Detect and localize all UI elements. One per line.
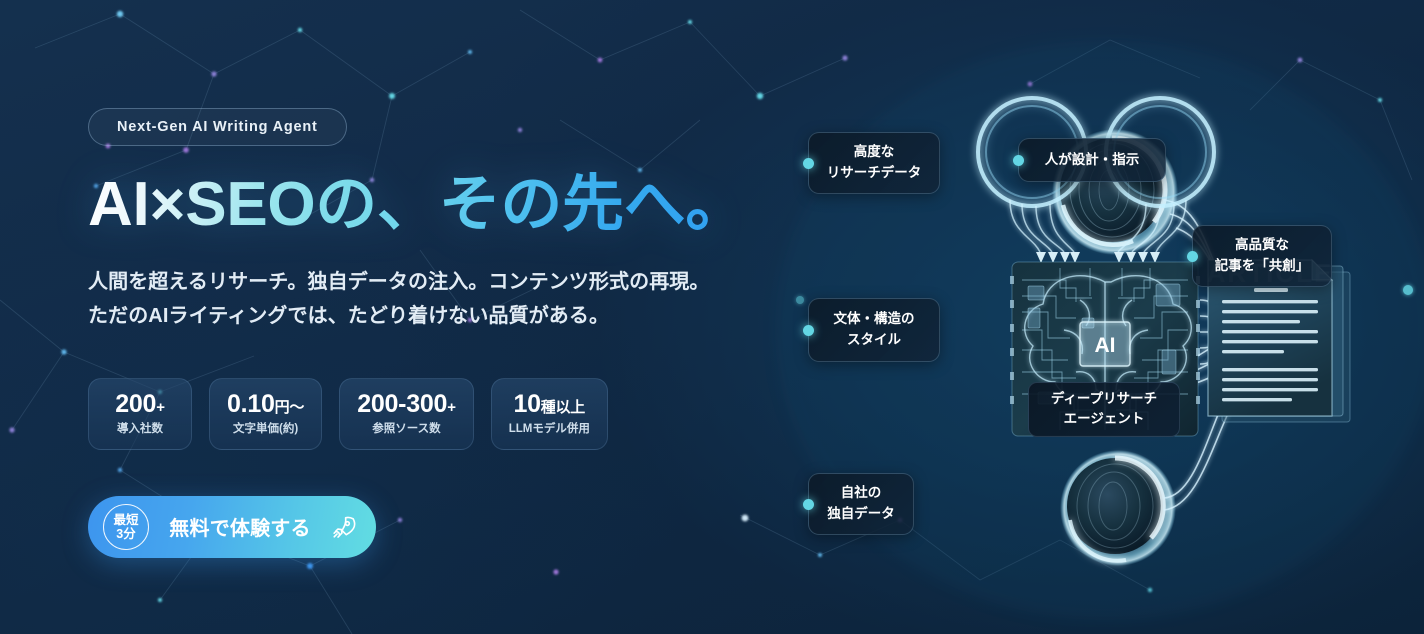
connector-dot-icon [803, 499, 814, 510]
stat-card: 10種以上 LLMモデル併用 [491, 378, 608, 450]
eyebrow-label: Next-Gen AI Writing Agent [117, 119, 318, 135]
duration-badge-line-1: 最短 [113, 513, 138, 527]
input-label-research-line-1: 高度な [854, 142, 895, 163]
ai-chip-label: AI [1095, 334, 1116, 357]
free-trial-button[interactable]: 最短 3分 無料で体験する [88, 496, 376, 558]
stat-label: 参照ソース数 [372, 420, 440, 436]
output-label-line-2: 記事を「共創」 [1215, 256, 1310, 277]
input-label-style-line-1: 文体・構造の [834, 309, 915, 330]
stat-label: 文字単価(約) [233, 420, 298, 436]
stat-number: 200 [115, 390, 156, 418]
stat-number: 10 [513, 390, 540, 418]
core-agent-caption-line-1: ディープリサーチ [1051, 391, 1157, 406]
input-label-owndata: 自社の 独自データ [808, 473, 914, 535]
duration-badge: 最短 3分 [103, 504, 149, 550]
input-label-owndata-line-1: 自社の [841, 483, 882, 504]
input-label-research: 高度な リサーチデータ [808, 132, 940, 194]
connector-dot-icon [1013, 155, 1024, 166]
stat-number: 200-300 [357, 390, 447, 418]
output-label: 高品質な 記事を「共創」 [1192, 225, 1332, 287]
stat-label: LLMモデル併用 [509, 420, 590, 436]
stat-value: 200+ [115, 392, 164, 417]
human-input-label: 人が設計・指示 [1018, 138, 1166, 182]
stat-suffix: 種以上 [541, 399, 585, 416]
stat-suffix: 円〜 [275, 399, 305, 416]
input-label-owndata-line-2: 独自データ [827, 504, 895, 525]
human-input-label-text: 人が設計・指示 [1045, 150, 1140, 171]
connector-dot-icon [803, 325, 814, 336]
input-label-research-line-2: リサーチデータ [827, 163, 922, 184]
hero-section: Next-Gen AI Writing Agent AI×SEOの、その先へ。 … [0, 0, 1424, 634]
input-label-style: 文体・構造の スタイル [808, 298, 940, 362]
connector-dot-icon [803, 158, 814, 169]
stat-suffix: + [447, 399, 456, 416]
stat-number: 0.10 [227, 390, 275, 418]
hero-left-column: Next-Gen AI Writing Agent AI×SEOの、その先へ。 … [88, 108, 768, 558]
ai-agent-diagram: AI [760, 0, 1424, 634]
stat-card: 200+ 導入社数 [88, 378, 192, 450]
rocket-icon [327, 514, 361, 540]
stat-card: 0.10円〜 文字単価(約) [209, 378, 322, 450]
subcopy-line-1: 人間を超えるリサーチ。独自データの注入。コンテンツ形式の再現。 [88, 271, 710, 293]
stat-list: 200+ 導入社数 0.10円〜 文字単価(約) 200-300+ 参照ソース数… [88, 378, 768, 450]
duration-badge-line-2: 3分 [116, 527, 135, 541]
core-agent-caption: ディープリサーチ エージェント [1028, 382, 1180, 437]
orb-owndata [1060, 450, 1176, 566]
output-label-line-1: 高品質な [1235, 235, 1289, 256]
stat-suffix: + [156, 399, 165, 416]
free-trial-label: 無料で体験する [149, 512, 327, 541]
hero-subcopy: 人間を超えるリサーチ。独自データの注入。コンテンツ形式の再現。 ただのAIライテ… [88, 265, 768, 334]
core-agent-caption-line-2: エージェント [1064, 411, 1145, 426]
input-label-style-line-2: スタイル [847, 330, 901, 351]
stat-label: 導入社数 [117, 420, 163, 436]
page-title: AI×SEOの、その先へ。 [88, 172, 768, 239]
stat-value: 0.10円〜 [227, 392, 304, 417]
connector-dot-icon [1187, 251, 1198, 262]
stat-value: 10種以上 [513, 392, 585, 417]
eyebrow-badge: Next-Gen AI Writing Agent [88, 108, 347, 146]
stat-value: 200-300+ [357, 392, 456, 417]
stat-card: 200-300+ 参照ソース数 [339, 378, 474, 450]
subcopy-line-2: ただのAIライティングでは、たどり着けない品質がある。 [88, 305, 609, 327]
